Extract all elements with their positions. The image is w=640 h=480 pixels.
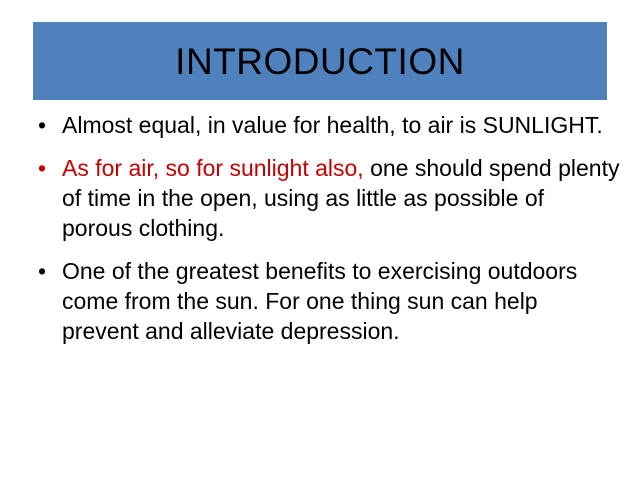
bullet-marker-icon: • bbox=[38, 256, 46, 286]
list-item-text: One of the greatest benefits to exercisi… bbox=[62, 256, 620, 346]
list-item-body: Almost equal, in value for health, to ai… bbox=[62, 112, 603, 138]
bullet-list: • Almost equal, in value for health, to … bbox=[30, 110, 620, 346]
list-item-text: Almost equal, in value for health, to ai… bbox=[62, 110, 620, 140]
list-item-body: One of the greatest benefits to exercisi… bbox=[62, 258, 577, 344]
bullet-marker-icon: • bbox=[38, 153, 46, 183]
list-item: • Almost equal, in value for health, to … bbox=[30, 110, 620, 140]
bullet-marker-icon: • bbox=[38, 110, 46, 140]
slide: INTRODUCTION • Almost equal, in value fo… bbox=[0, 0, 640, 480]
title-banner: INTRODUCTION bbox=[33, 22, 607, 100]
list-item-emphasis: As for air, so for sunlight also, bbox=[62, 155, 364, 181]
page-title: INTRODUCTION bbox=[175, 43, 465, 80]
list-item: • One of the greatest benefits to exerci… bbox=[30, 256, 620, 346]
list-item-text: As for air, so for sunlight also, one sh… bbox=[62, 153, 620, 243]
list-item: • As for air, so for sunlight also, one … bbox=[30, 153, 620, 243]
